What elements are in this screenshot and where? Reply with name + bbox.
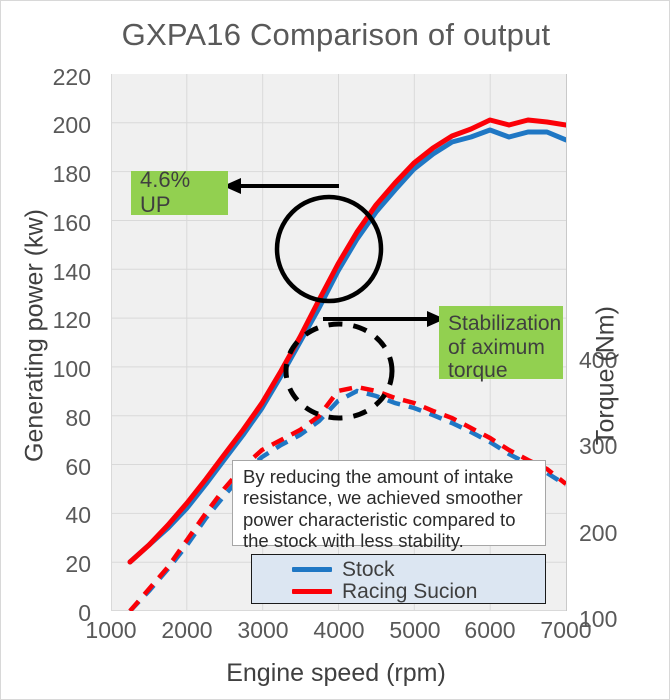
page-title: GXPA16 Comparison of output bbox=[1, 17, 670, 53]
legend-item-racing: Racing Sucion bbox=[252, 580, 545, 602]
legend-label-racing: Racing Sucion bbox=[342, 581, 477, 602]
legend-item-stock: Stock bbox=[252, 558, 545, 580]
x-axis-tick: 7000 bbox=[521, 619, 611, 642]
power-gain-arrow bbox=[223, 178, 339, 194]
legend-label-stock: Stock bbox=[342, 559, 395, 580]
legend-swatch-racing bbox=[292, 589, 332, 594]
y-axis-left-tick: 20 bbox=[31, 553, 91, 576]
x-axis-label: Engine speed (rpm) bbox=[1, 659, 670, 688]
y-axis-right-label: Torque (Nm) bbox=[592, 226, 621, 526]
y-axis-left-label: Generating power (kw) bbox=[21, 126, 50, 546]
y-axis-left-tick: 220 bbox=[31, 66, 91, 89]
callout-torque-stability: Stabilization of aximum torque bbox=[439, 306, 563, 379]
legend: Stock Racing Sucion bbox=[251, 554, 546, 604]
legend-swatch-stock bbox=[292, 567, 332, 572]
note-text-box: By reducing the amount of intake resista… bbox=[232, 460, 546, 546]
callout-power-gain: 4.6% UP bbox=[131, 171, 228, 215]
